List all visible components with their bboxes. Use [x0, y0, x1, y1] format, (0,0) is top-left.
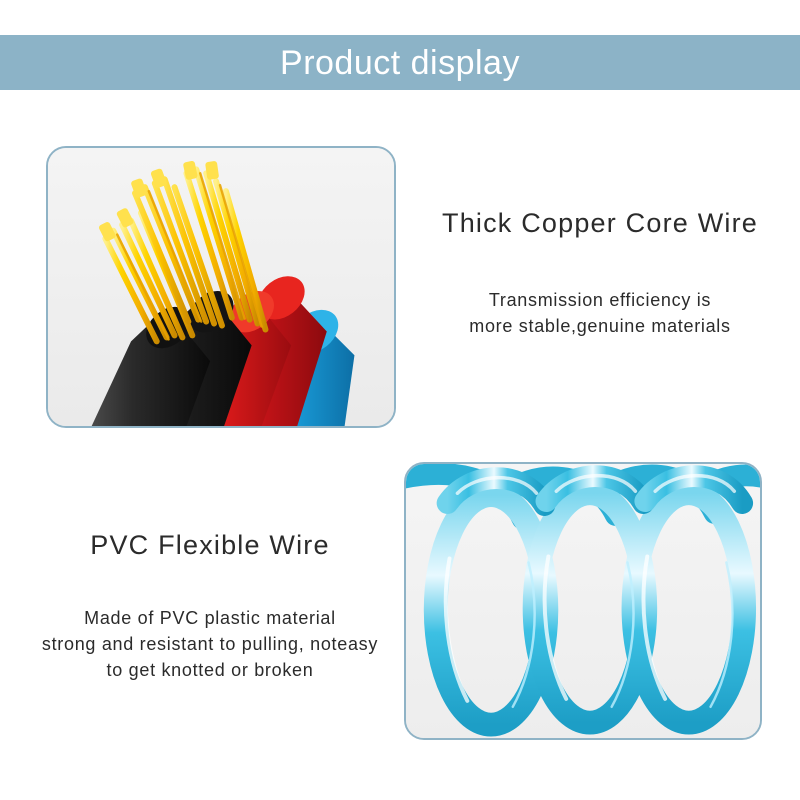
page-header-banner: Product display: [0, 35, 800, 90]
feature-pvc-description-line-2: strong and resistant to pulling, noteasy: [20, 631, 400, 657]
feature-copper-description-line-2: more stable,genuine materials: [420, 313, 780, 339]
pvc-coiled-wire-photo: [404, 462, 762, 740]
page-title: Product display: [280, 46, 520, 80]
feature-pvc-heading: PVC Flexible Wire: [20, 530, 400, 561]
copper-core-wire-photo: [46, 146, 396, 428]
feature-pvc-description-line-1: Made of PVC plastic material: [20, 605, 400, 631]
feature-pvc-description: Made of PVC plastic material strong and …: [20, 605, 400, 683]
copper-wire-illustration: [48, 148, 394, 426]
product-display-page: Product display: [0, 0, 800, 800]
pvc-coil-illustration: [406, 464, 760, 738]
feature-copper-description-line-1: Transmission efficiency is: [420, 287, 780, 313]
feature-copper-description: Transmission efficiency is more stable,g…: [420, 287, 780, 339]
feature-copper-heading: Thick Copper Core Wire: [420, 208, 780, 239]
feature-pvc-text-block: PVC Flexible Wire Made of PVC plastic ma…: [20, 530, 400, 683]
feature-pvc-description-line-3: to get knotted or broken: [20, 657, 400, 683]
feature-copper-text-block: Thick Copper Core Wire Transmission effi…: [420, 208, 780, 339]
